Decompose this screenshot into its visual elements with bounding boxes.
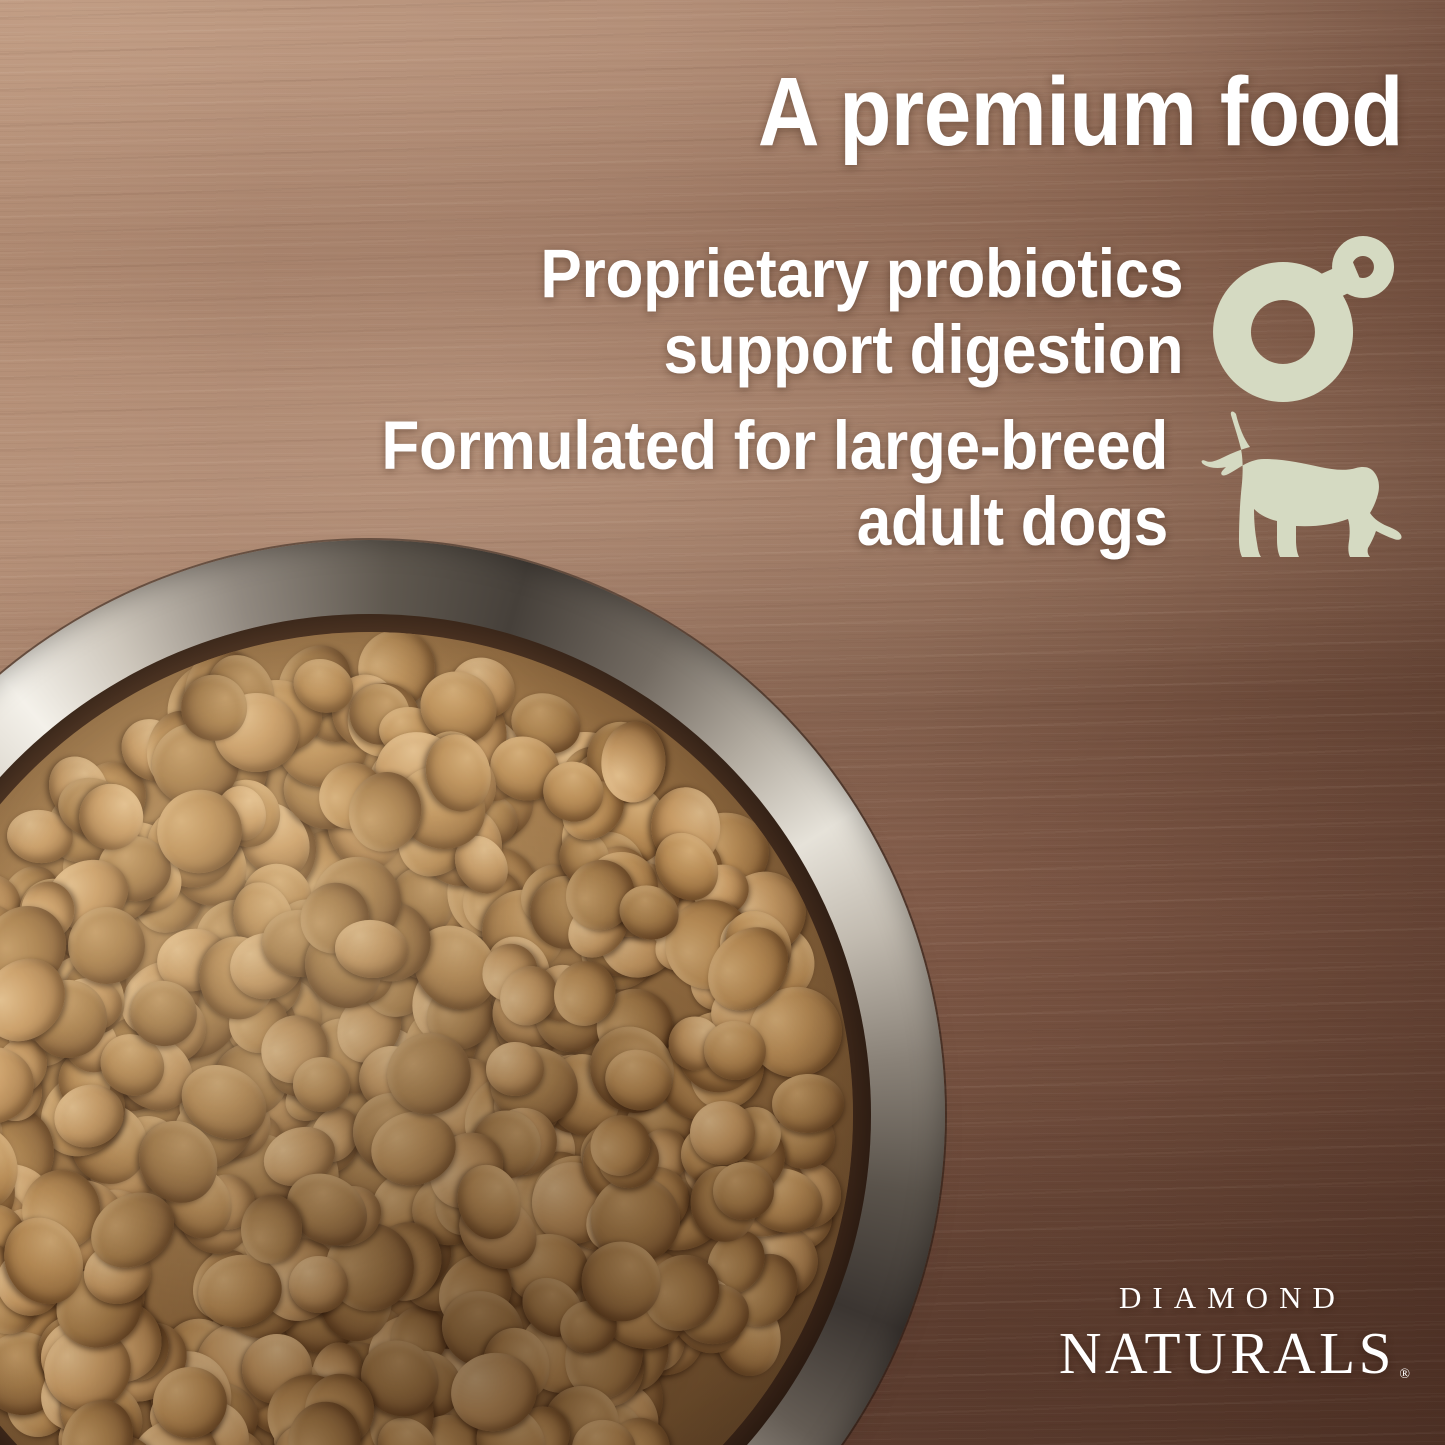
brand-logo: DIAMOND NATURALS ®	[1059, 1282, 1395, 1383]
page-title: A premium food	[168, 62, 1403, 163]
dog-silhouette-icon	[1198, 409, 1403, 559]
registered-trademark-icon: ®	[1399, 1368, 1410, 1382]
benefit-probiotics: Proprietary probiotics support digestion	[180, 222, 1403, 402]
product-feature-card: A premium food Proprietary probiotics su…	[0, 0, 1445, 1445]
wood-vignette	[0, 0, 1445, 1445]
brand-logo-naturals: NATURALS	[1059, 1320, 1395, 1386]
brand-logo-diamond: DIAMOND	[1059, 1282, 1395, 1313]
benefit-probiotics-label: Proprietary probiotics support digestion	[540, 236, 1183, 388]
benefit-large-breed-label: Formulated for large-breed adult dogs	[381, 408, 1168, 560]
probiotic-molecule-icon	[1213, 222, 1403, 402]
benefit-large-breed: Formulated for large-breed adult dogs	[120, 408, 1403, 560]
brand-logo-naturals-row: NATURALS ®	[1059, 1324, 1395, 1383]
